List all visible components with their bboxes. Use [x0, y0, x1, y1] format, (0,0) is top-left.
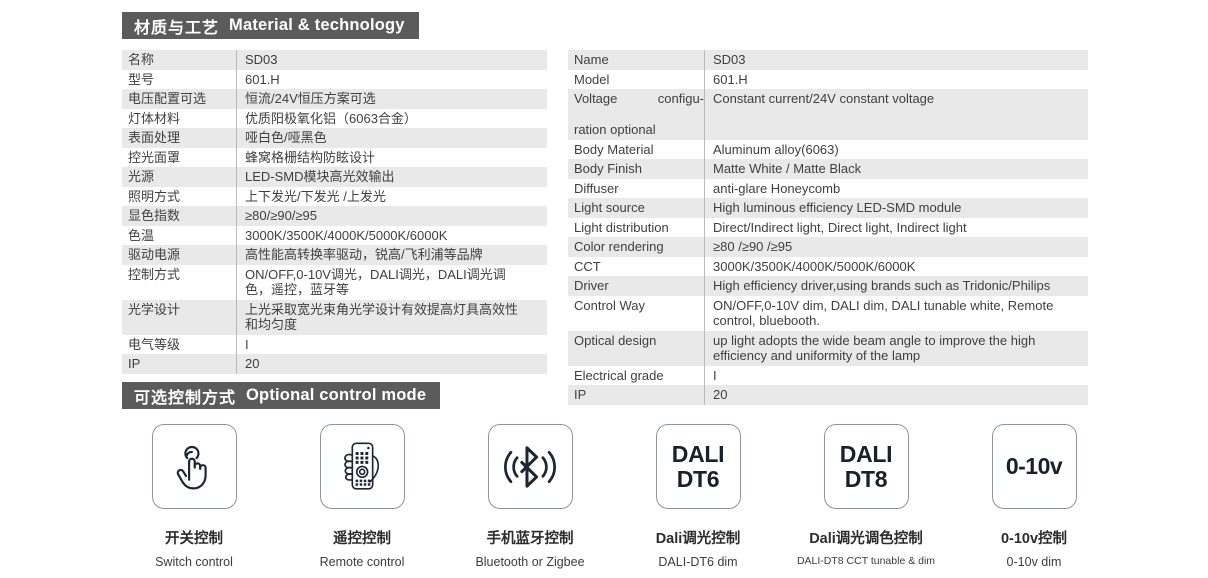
- spec-row-value: LED-SMD模块高光效输出: [237, 167, 548, 187]
- spec-row-key-line: Light distribution: [574, 220, 704, 236]
- spec-row: 照明方式上下发光/下发光 /上发光: [122, 187, 547, 207]
- spec-row-key-line: IP: [128, 356, 236, 372]
- spec-row-value-line: efficiency and uniformity of the lamp: [713, 348, 1088, 364]
- spec-row-key: 灯体材料: [122, 109, 237, 129]
- spec-row-key-line: Name: [574, 52, 704, 68]
- dali-dt6-icon: DALIDT6: [656, 424, 741, 509]
- spec-row: Voltage configu-ration optionalConstant …: [568, 89, 1088, 140]
- spec-row-value: 哑白色/哑黑色: [237, 128, 548, 148]
- spec-row: NameSD03: [568, 50, 1088, 70]
- spec-row-key-line: 驱动电源: [128, 247, 236, 263]
- spec-row-value-line: 色，遥控，蓝牙等: [245, 282, 547, 298]
- spec-row-key-line: Diffuser: [574, 181, 704, 197]
- spec-row-key-line: Color rendering: [574, 239, 704, 255]
- dali-label: DALIDT8: [840, 442, 892, 492]
- spec-row-key: 光源: [122, 167, 237, 187]
- dali-dt8-icon: DALIDT8: [824, 424, 909, 509]
- spec-row-value: Constant current/24V constant voltage: [705, 89, 1089, 140]
- spec-row-key-line: Model: [574, 72, 704, 88]
- spec-row: Model601.H: [568, 70, 1088, 90]
- spec-row-value: anti-glare Honeycomb: [705, 179, 1089, 199]
- spec-row-value: 601.H: [705, 70, 1089, 90]
- spec-row-value-line: SD03: [245, 52, 547, 68]
- dali-label-line1: DALI: [840, 441, 892, 467]
- spec-row-value: ≥80/≥90/≥95: [237, 206, 548, 226]
- bluetooth-icon: [488, 424, 573, 509]
- control-mode-item[interactable]: 手机蓝牙控制Bluetooth or Zigbee: [446, 424, 614, 574]
- spec-row-key-line: 灯体材料: [128, 111, 236, 127]
- control-mode-label-cn: 遥控控制: [333, 527, 391, 548]
- spec-row-value-line: 601.H: [713, 72, 1088, 88]
- spec-row-key: Color rendering: [568, 237, 705, 257]
- section-header-material-en: Material & technology: [229, 16, 405, 35]
- spec-row: 色温3000K/3500K/4000K/5000K/6000K: [122, 226, 547, 246]
- spec-row-key: 控制方式: [122, 265, 237, 300]
- spec-row: 显色指数≥80/≥90/≥95: [122, 206, 547, 226]
- spec-sheet-page: 材质与工艺 Material & technology 名称SD03型号601.…: [0, 0, 1208, 578]
- spec-row-key-line: 电气等级: [128, 337, 236, 353]
- spec-row-value: 高性能高转换率驱动，锐高/飞利浦等品牌: [237, 245, 548, 265]
- spec-row-key: 光学设计: [122, 300, 237, 335]
- spec-row: Electrical gradeI: [568, 366, 1088, 386]
- spec-row: Light sourceHigh luminous efficiency LED…: [568, 198, 1088, 218]
- zero-to-ten-volt-icon: 0-10v: [992, 424, 1077, 509]
- spec-row: 驱动电源高性能高转换率驱动，锐高/飞利浦等品牌: [122, 245, 547, 265]
- spec-row: Body MaterialAluminum alloy(6063): [568, 140, 1088, 160]
- spec-row-value-line: I: [713, 368, 1088, 384]
- spec-row-value-line: 3000K/3500K/4000K/5000K/6000K: [245, 228, 547, 244]
- control-mode-label-cn: Dali调光调色控制: [809, 527, 923, 548]
- spec-row-key-line: Optical design: [574, 333, 704, 349]
- spec-row-value: ≥80 /≥90 /≥95: [705, 237, 1089, 257]
- spec-row-value-line: 蜂窝格栅结构防眩设计: [245, 150, 547, 166]
- spec-row-value-line: 上光采取宽光束角光学设计有效提高灯具高效性: [245, 302, 547, 318]
- spec-row-value-line: 上下发光/下发光 /上发光: [245, 189, 547, 205]
- spec-row-key-line: Electrical grade: [574, 368, 704, 384]
- spec-row-value: 3000K/3500K/4000K/5000K/6000K: [705, 257, 1089, 277]
- spec-row-value-line: Aluminum alloy(6063): [713, 142, 1088, 158]
- spec-row-value: I: [705, 366, 1089, 386]
- control-mode-label-en: Switch control: [155, 555, 233, 569]
- spec-row-key-line: 色温: [128, 228, 236, 244]
- spec-row-value-line: up light adopts the wide beam angle to i…: [713, 333, 1088, 349]
- spec-row-key: Optical design: [568, 331, 705, 366]
- spec-row-key-line: Body Material: [574, 142, 704, 158]
- dali-label-line2: DT8: [840, 467, 892, 492]
- spec-row-key: Body Finish: [568, 159, 705, 179]
- control-mode-label-en: Bluetooth or Zigbee: [475, 555, 584, 569]
- dali-label: DALIDT6: [672, 442, 724, 492]
- spec-row: Color rendering≥80 /≥90 /≥95: [568, 237, 1088, 257]
- spec-row-key: Light distribution: [568, 218, 705, 238]
- spec-row-value: 上光采取宽光束角光学设计有效提高灯具高效性和均匀度: [237, 300, 548, 335]
- spec-row-key: 电压配置可选: [122, 89, 237, 109]
- spec-row-key: Diffuser: [568, 179, 705, 199]
- control-mode-label-cn: 手机蓝牙控制: [487, 527, 574, 548]
- spec-row: 光学设计上光采取宽光束角光学设计有效提高灯具高效性和均匀度: [122, 300, 547, 335]
- spec-row-value: 3000K/3500K/4000K/5000K/6000K: [237, 226, 548, 246]
- spec-row-key-line: 照明方式: [128, 189, 236, 205]
- spec-row-key-line: 电压配置可选: [128, 91, 236, 107]
- spec-row-key: CCT: [568, 257, 705, 277]
- spec-row-value: High luminous efficiency LED-SMD module: [705, 198, 1089, 218]
- spec-row-key-line: ration optional: [574, 122, 704, 138]
- control-mode-item[interactable]: DALIDT8Dali调光调色控制DALI-DT8 CCT tunable & …: [782, 424, 950, 574]
- spec-row-key: 显色指数: [122, 206, 237, 226]
- control-mode-list: 开关控制Switch control: [110, 424, 1120, 574]
- spec-table-chinese: 名称SD03型号601.H电压配置可选恒流/24V恒压方案可选灯体材料优质阳极氧…: [122, 50, 547, 374]
- control-mode-item[interactable]: 0-10v0-10v控制0-10v dim: [950, 424, 1118, 574]
- spec-row: 灯体材料优质阳极氧化铝（6063合金）: [122, 109, 547, 129]
- spec-row-value: High efficiency driver,using brands such…: [705, 276, 1089, 296]
- spec-row-value: 恒流/24V恒压方案可选: [237, 89, 548, 109]
- spec-row-value-line: Matte White / Matte Black: [713, 161, 1088, 177]
- spec-row-value-line: LED-SMD模块高光效输出: [245, 169, 547, 185]
- spec-row: 电压配置可选恒流/24V恒压方案可选: [122, 89, 547, 109]
- spec-row-key: 电气等级: [122, 335, 237, 355]
- spec-row: 名称SD03: [122, 50, 547, 70]
- spec-row-key-line: 型号: [128, 72, 236, 88]
- spec-row-key: IP: [122, 354, 237, 374]
- spec-row-value-line: control, bluebooth.: [713, 313, 1088, 329]
- spec-row-key: 表面处理: [122, 128, 237, 148]
- spec-row-value-line: I: [245, 337, 547, 353]
- section-header-material: 材质与工艺 Material & technology: [122, 12, 419, 39]
- zero-to-ten-volt-label: 0-10v: [1006, 453, 1062, 480]
- spec-row-key: 控光面罩: [122, 148, 237, 168]
- spec-row-key-line: 光学设计: [128, 302, 236, 318]
- spec-row-value-line: High luminous efficiency LED-SMD module: [713, 200, 1088, 216]
- spec-row-key: Name: [568, 50, 705, 70]
- spec-row: IP20: [568, 385, 1088, 405]
- spec-row: Optical designup light adopts the wide b…: [568, 331, 1088, 366]
- spec-table-chinese-body: 名称SD03型号601.H电压配置可选恒流/24V恒压方案可选灯体材料优质阳极氧…: [122, 50, 547, 374]
- control-mode-item[interactable]: 遥控控制Remote control: [278, 424, 446, 574]
- control-mode-item[interactable]: 开关控制Switch control: [110, 424, 278, 574]
- spec-row-value-line: 高性能高转换率驱动，锐高/飞利浦等品牌: [245, 247, 547, 263]
- spec-row-key: 照明方式: [122, 187, 237, 207]
- spec-row-value: ON/OFF,0-10V dim, DALI dim, DALI tunable…: [705, 296, 1089, 331]
- spec-row: Body FinishMatte White / Matte Black: [568, 159, 1088, 179]
- spec-row-value-line: 3000K/3500K/4000K/5000K/6000K: [713, 259, 1088, 275]
- spec-row: Control WayON/OFF,0-10V dim, DALI dim, D…: [568, 296, 1088, 331]
- spec-row-key: Driver: [568, 276, 705, 296]
- control-mode-label-cn: Dali调光控制: [656, 527, 741, 548]
- spec-row-value-line: 20: [245, 356, 547, 372]
- spec-row-value: 601.H: [237, 70, 548, 90]
- control-mode-label-en: 0-10v dim: [1007, 555, 1062, 569]
- spec-row-value-line: ≥80 /≥90 /≥95: [713, 239, 1088, 255]
- spec-row-value-line: 恒流/24V恒压方案可选: [245, 91, 547, 107]
- spec-row-value-line: anti-glare Honeycomb: [713, 181, 1088, 197]
- spec-row-key-line: Body Finish: [574, 161, 704, 177]
- control-mode-label-en: Remote control: [320, 555, 405, 569]
- spec-row-key: Voltage configu-ration optional: [568, 89, 705, 140]
- spec-row-value: Matte White / Matte Black: [705, 159, 1089, 179]
- spec-row-value: 20: [705, 385, 1089, 405]
- spec-row-key: Electrical grade: [568, 366, 705, 386]
- spec-row-value: SD03: [237, 50, 548, 70]
- spec-table-english-body: NameSD03Model601.HVoltage configu-ration…: [568, 50, 1088, 405]
- spec-row-value: ON/OFF,0-10V调光，DALI调光，DALI调光调色，遥控，蓝牙等: [237, 265, 548, 300]
- spec-table-english: NameSD03Model601.HVoltage configu-ration…: [568, 50, 1088, 405]
- spec-row: Diffuseranti-glare Honeycomb: [568, 179, 1088, 199]
- spec-row: DriverHigh efficiency driver,using brand…: [568, 276, 1088, 296]
- spec-row-key-line: Light source: [574, 200, 704, 216]
- spec-row: IP20: [122, 354, 547, 374]
- spec-row-key-line: 显色指数: [128, 208, 236, 224]
- control-mode-label-cn: 0-10v控制: [1001, 527, 1067, 548]
- spec-row-key-line: IP: [574, 387, 704, 403]
- section-header-control-mode-cn: 可选控制方式: [134, 384, 236, 408]
- dali-label-line1: DALI: [672, 441, 724, 467]
- spec-row-key-line: Control Way: [574, 298, 704, 314]
- spec-row: CCT3000K/3500K/4000K/5000K/6000K: [568, 257, 1088, 277]
- spec-row-value-line: 哑白色/哑黑色: [245, 130, 547, 146]
- spec-row-key-line: 表面处理: [128, 130, 236, 146]
- spec-row-key-line: 光源: [128, 169, 236, 185]
- spec-row-key: Light source: [568, 198, 705, 218]
- spec-row-value: 20: [237, 354, 548, 374]
- spec-row-key: 型号: [122, 70, 237, 90]
- spec-row-value: 上下发光/下发光 /上发光: [237, 187, 548, 207]
- spec-row-key: 名称: [122, 50, 237, 70]
- spec-row-value-line: SD03: [713, 52, 1088, 68]
- spec-row: 型号601.H: [122, 70, 547, 90]
- spec-row-key-line: CCT: [574, 259, 704, 275]
- spec-row-key-line: 控光面罩: [128, 150, 236, 166]
- spec-row-value: SD03: [705, 50, 1089, 70]
- spec-row-value: I: [237, 335, 548, 355]
- remote-control-icon: [320, 424, 405, 509]
- section-header-control-mode: 可选控制方式 Optional control mode: [122, 382, 440, 409]
- spec-row: 控光面罩蜂窝格栅结构防眩设计: [122, 148, 547, 168]
- spec-row-key: Control Way: [568, 296, 705, 331]
- spec-row-key-line: 控制方式: [128, 267, 236, 283]
- spec-row: Light distributionDirect/Indirect light,…: [568, 218, 1088, 238]
- spec-row-key: IP: [568, 385, 705, 405]
- spec-row-value-line: ON/OFF,0-10V调光，DALI调光，DALI调光调: [245, 267, 547, 283]
- spec-row-value: 蜂窝格栅结构防眩设计: [237, 148, 548, 168]
- control-mode-label-cn: 开关控制: [165, 527, 223, 548]
- spec-row-value-line: High efficiency driver,using brands such…: [713, 278, 1088, 294]
- spec-row-key: 驱动电源: [122, 245, 237, 265]
- spec-row-value-line: 和均匀度: [245, 317, 547, 333]
- section-header-control-mode-en: Optional control mode: [246, 386, 426, 405]
- spec-row-value: Direct/Indirect light, Direct light, Ind…: [705, 218, 1089, 238]
- control-mode-label-en: DALI-DT6 dim: [658, 555, 737, 569]
- control-mode-label-en: DALI-DT8 CCT tunable & dim: [797, 555, 935, 567]
- spec-row-value: 优质阳极氧化铝（6063合金）: [237, 109, 548, 129]
- spec-row-value-line: ≥80/≥90/≥95: [245, 208, 547, 224]
- spec-row-value: up light adopts the wide beam angle to i…: [705, 331, 1089, 366]
- spec-row-key-line: Driver: [574, 278, 704, 294]
- spec-row-value: Aluminum alloy(6063): [705, 140, 1089, 160]
- touch-hand-icon: [152, 424, 237, 509]
- dali-label-line2: DT6: [672, 467, 724, 492]
- spec-row-value-line: 601.H: [245, 72, 547, 88]
- spec-row-key-line: Voltage configu-: [574, 91, 704, 122]
- control-mode-item[interactable]: DALIDT6Dali调光控制DALI-DT6 dim: [614, 424, 782, 574]
- spec-row-value-line: ON/OFF,0-10V dim, DALI dim, DALI tunable…: [713, 298, 1088, 314]
- section-header-material-cn: 材质与工艺: [134, 14, 219, 38]
- spec-row-key: Model: [568, 70, 705, 90]
- spec-row-value-line: 优质阳极氧化铝（6063合金）: [245, 111, 547, 127]
- spec-row-value-line: 20: [713, 387, 1088, 403]
- spec-row: 表面处理哑白色/哑黑色: [122, 128, 547, 148]
- spec-row: 光源LED-SMD模块高光效输出: [122, 167, 547, 187]
- spec-row: 控制方式ON/OFF,0-10V调光，DALI调光，DALI调光调色，遥控，蓝牙…: [122, 265, 547, 300]
- spec-row-value-line: Direct/Indirect light, Direct light, Ind…: [713, 220, 1088, 236]
- spec-row-value-line: Constant current/24V constant voltage: [713, 91, 1088, 107]
- spec-row: 电气等级I: [122, 335, 547, 355]
- spec-row-key-line: 名称: [128, 52, 236, 68]
- spec-row-key: 色温: [122, 226, 237, 246]
- spec-row-key: Body Material: [568, 140, 705, 160]
